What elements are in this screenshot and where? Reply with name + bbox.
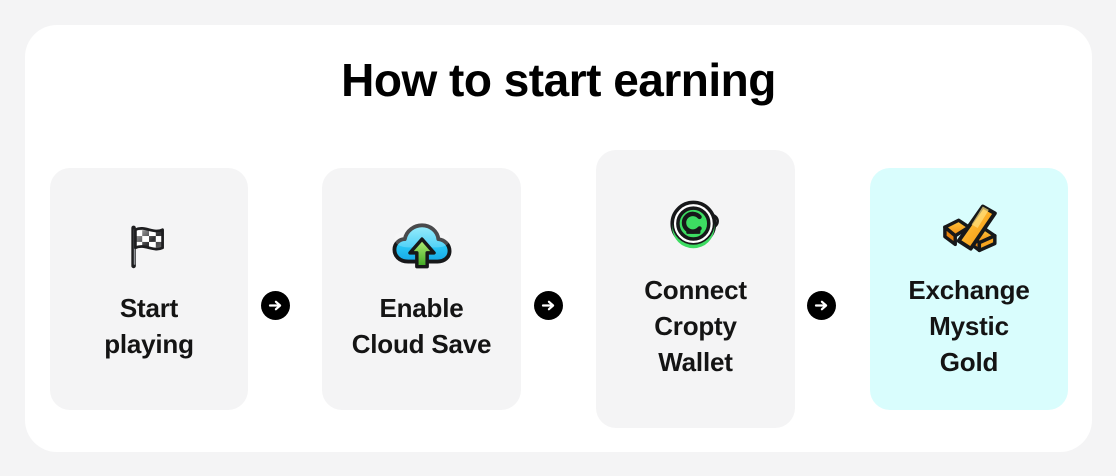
- how-to-start-earning-panel: How to start earning: [25, 25, 1092, 452]
- step-card-connect-cropty-wallet[interactable]: Connect Cropty Wallet: [596, 150, 795, 428]
- step-card-enable-cloud-save[interactable]: Enable Cloud Save: [322, 168, 521, 410]
- cloud-upload-icon: [391, 216, 453, 276]
- step-label: Enable Cloud Save: [352, 290, 492, 362]
- checkered-flag-icon: [120, 216, 178, 276]
- arrow-right-circle-icon: [807, 291, 836, 320]
- cropty-wallet-logo-icon: [666, 198, 726, 258]
- step-label: Start playing: [104, 290, 194, 362]
- step-card-exchange-mystic-gold[interactable]: Exchange Mystic Gold: [870, 168, 1068, 410]
- steps-row: Start playing: [25, 143, 1092, 433]
- arrow-right-circle-icon: [534, 291, 563, 320]
- arrow-right-circle-icon: [261, 291, 290, 320]
- step-label: Connect Cropty Wallet: [644, 272, 747, 380]
- page-title: How to start earning: [25, 52, 1092, 108]
- gold-bars-icon: [938, 198, 1000, 258]
- step-label: Exchange Mystic Gold: [908, 272, 1029, 380]
- step-card-start-playing[interactable]: Start playing: [50, 168, 248, 410]
